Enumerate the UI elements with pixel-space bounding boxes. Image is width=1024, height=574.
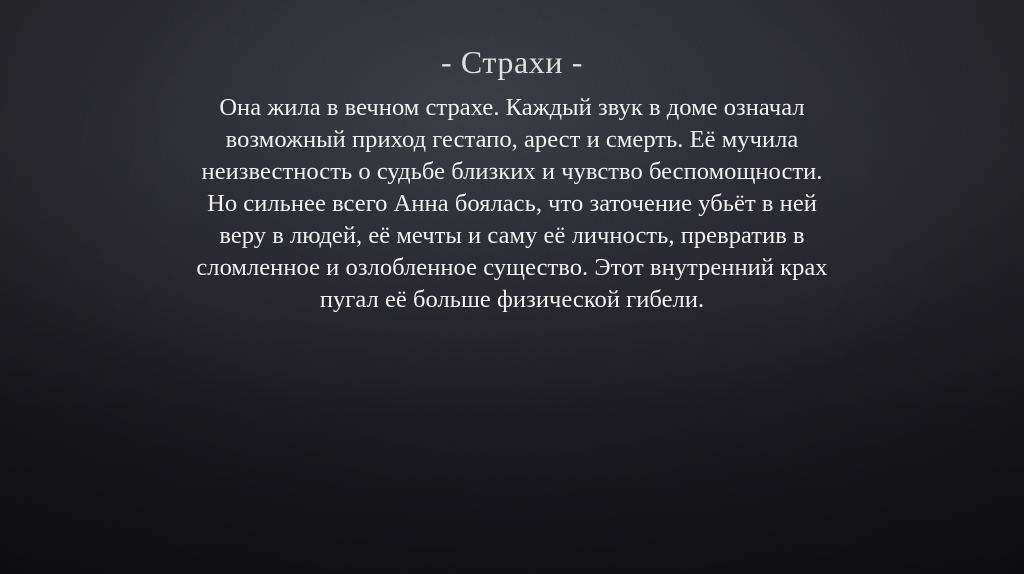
slide-title: - Страхи - <box>0 40 1024 84</box>
slide-body-text: Она жила в вечном страхе. Каждый звук в … <box>82 92 942 316</box>
body-line: неизвестность о судьбе близких и чувство… <box>82 156 942 188</box>
body-line: возможный приход гестапо, арест и смерть… <box>82 124 942 156</box>
body-line: пугал её больше физической гибели. <box>82 284 942 316</box>
body-line: сломленное и озлобленное существо. Этот … <box>82 252 942 284</box>
presentation-slide: - Страхи - Она жила в вечном страхе. Каж… <box>0 0 1024 574</box>
slide-content: - Страхи - Она жила в вечном страхе. Каж… <box>0 0 1024 574</box>
body-line: Но сильнее всего Анна боялась, что заточ… <box>82 188 942 220</box>
body-line: веру в людей, её мечты и саму её личност… <box>82 220 942 252</box>
body-line: Она жила в вечном страхе. Каждый звук в … <box>82 92 942 124</box>
